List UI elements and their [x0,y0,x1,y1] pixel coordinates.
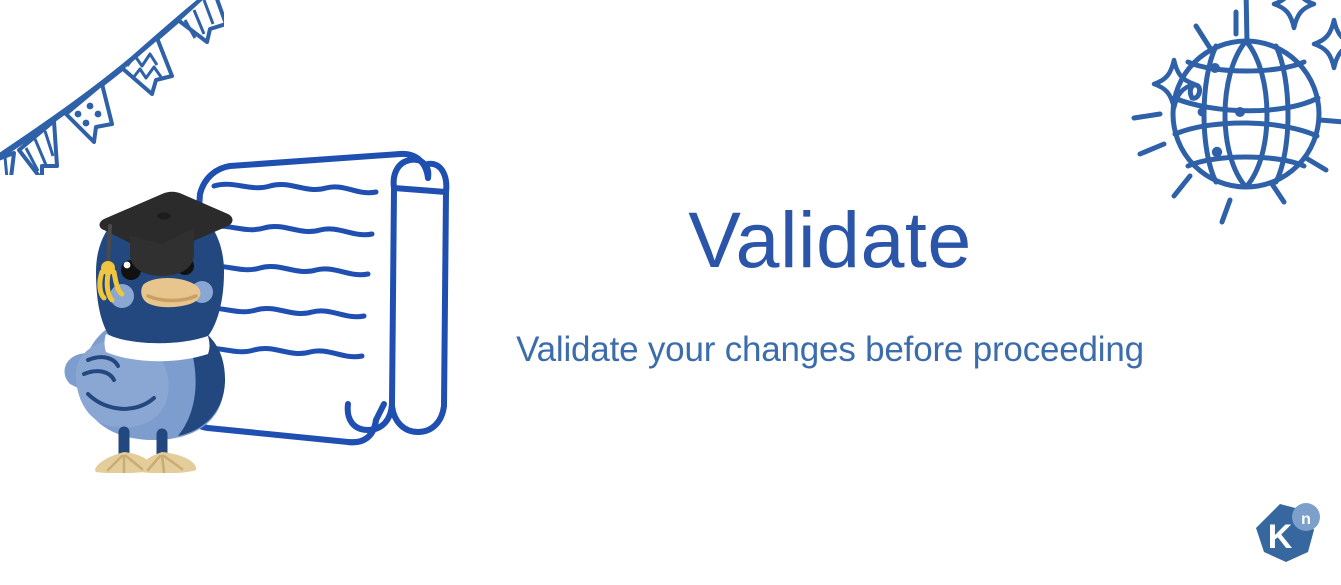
knative-logo: K n [1248,500,1328,572]
page-title: Validate [470,200,1190,279]
graduate-bird-mascot [58,188,248,473]
scroll-certificate-icon [178,138,474,463]
party-bunting-icon [0,0,224,175]
slide-canvas: Validate Validate your changes before pr… [0,0,1341,585]
logo-letter-k: K [1268,518,1293,556]
page-subtitle: Validate your changes before proceeding [470,279,1190,367]
logo-letter-n: n [1301,511,1311,528]
title-block: Validate Validate your changes before pr… [470,200,1190,367]
disco-ball-icon [1118,0,1341,230]
